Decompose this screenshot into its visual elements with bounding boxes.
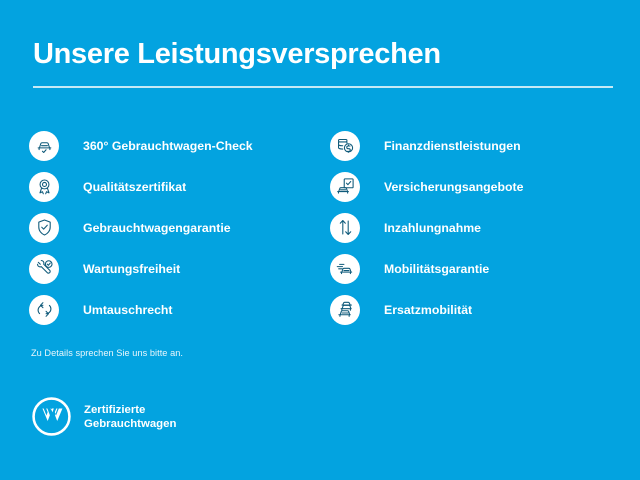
- brand-lockup: Zertifizierte Gebrauchtwagen: [31, 396, 176, 437]
- list-item-label: Qualitätszertifikat: [83, 180, 186, 194]
- list-item[interactable]: Finanzdienstleistungen: [330, 125, 620, 166]
- two-cars-icon: [330, 295, 360, 325]
- list-item-label: Finanzdienstleistungen: [384, 139, 521, 153]
- brand-line-2: Gebrauchtwagen: [84, 417, 176, 431]
- car-check-icon: [29, 131, 59, 161]
- wrench-check-icon: [29, 254, 59, 284]
- shield-check-icon: [29, 213, 59, 243]
- page-title: Unsere Leistungsversprechen: [33, 37, 441, 71]
- list-item-label: 360° Gebrauchtwagen-Check: [83, 139, 253, 153]
- list-item-label: Inzahlungnahme: [384, 221, 481, 235]
- list-item-label: Gebrauchtwagengarantie: [83, 221, 231, 235]
- promise-list-left: 360° Gebrauchtwagen-Check Qualitätszerti…: [29, 125, 319, 330]
- coins-money-icon: [330, 131, 360, 161]
- list-item[interactable]: Versicherungsangebote: [330, 166, 620, 207]
- promise-slide: Unsere Leistungsversprechen 360° Gebrauc…: [0, 0, 640, 480]
- up-down-arrows-icon: [330, 213, 360, 243]
- brand-text: Zertifizierte Gebrauchtwagen: [84, 403, 176, 431]
- title-divider: [33, 86, 613, 88]
- list-item[interactable]: Mobilitätsgarantie: [330, 248, 620, 289]
- award-rosette-icon: [29, 172, 59, 202]
- list-item[interactable]: Ersatzmobilität: [330, 289, 620, 330]
- list-item[interactable]: Gebrauchtwagengarantie: [29, 207, 319, 248]
- promise-list-right: Finanzdienstleistungen Versicherungsange…: [330, 125, 620, 330]
- brand-line-1: Zertifizierte: [84, 403, 176, 417]
- car-motion-icon: [330, 254, 360, 284]
- car-document-icon: [330, 172, 360, 202]
- list-item-label: Wartungsfreiheit: [83, 262, 180, 276]
- list-item[interactable]: Qualitätszertifikat: [29, 166, 319, 207]
- exchange-arrows-icon: [29, 295, 59, 325]
- list-item[interactable]: Umtauschrecht: [29, 289, 319, 330]
- list-item[interactable]: Wartungsfreiheit: [29, 248, 319, 289]
- list-item-label: Umtauschrecht: [83, 303, 173, 317]
- list-item[interactable]: 360° Gebrauchtwagen-Check: [29, 125, 319, 166]
- list-item-label: Versicherungsangebote: [384, 180, 523, 194]
- footnote-text: Zu Details sprechen Sie uns bitte an.: [31, 348, 183, 358]
- list-item-label: Mobilitätsgarantie: [384, 262, 489, 276]
- list-item[interactable]: Inzahlungnahme: [330, 207, 620, 248]
- volkswagen-logo: [31, 396, 72, 437]
- list-item-label: Ersatzmobilität: [384, 303, 472, 317]
